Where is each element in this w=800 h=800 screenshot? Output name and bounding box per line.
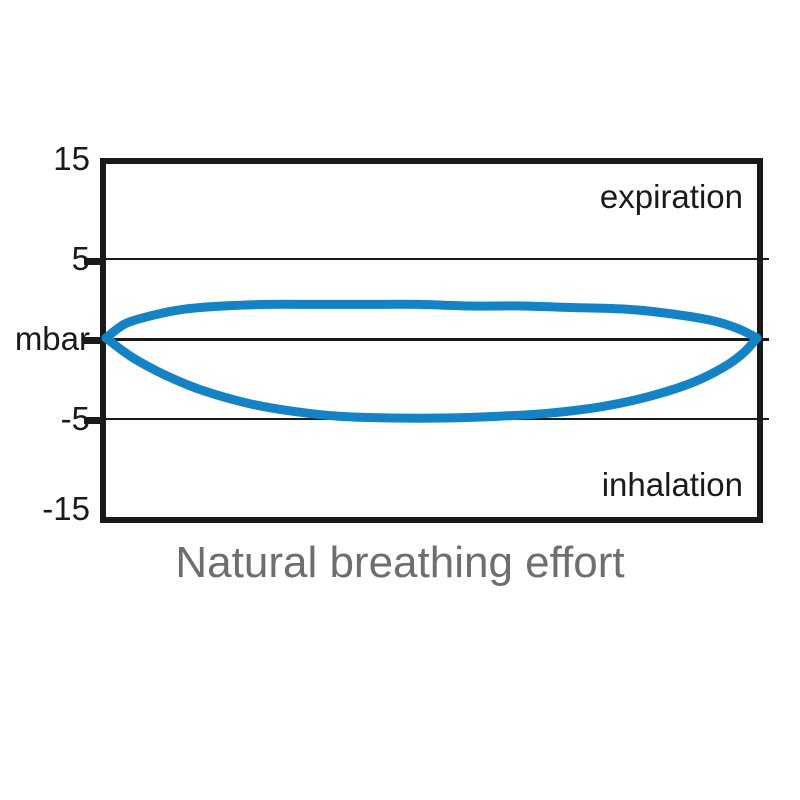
plot-frame: expiration inhalation	[100, 158, 763, 523]
expiration-branch-path	[106, 304, 757, 338]
y-tick-label-neg-15: -15	[42, 492, 90, 525]
y-axis-unit-label-mbar: mbar	[15, 322, 90, 355]
plot-area: expiration inhalation	[106, 164, 757, 517]
annotation-inhalation: inhalation	[602, 468, 743, 501]
y-tick-mark-neg-5	[84, 417, 101, 424]
annotation-expiration: expiration	[600, 180, 743, 213]
breathing-loop-curve	[106, 164, 757, 517]
breathing-effort-figure: 15 5 mbar -5 -15 expiration inhalation N…	[0, 0, 800, 800]
y-tick-mark-5	[84, 258, 101, 265]
y-tick-mark-0	[84, 337, 101, 344]
chart-caption: Natural breathing effort	[0, 538, 800, 588]
y-tick-label-15: 15	[53, 142, 90, 175]
inhalation-branch-path	[106, 338, 757, 418]
